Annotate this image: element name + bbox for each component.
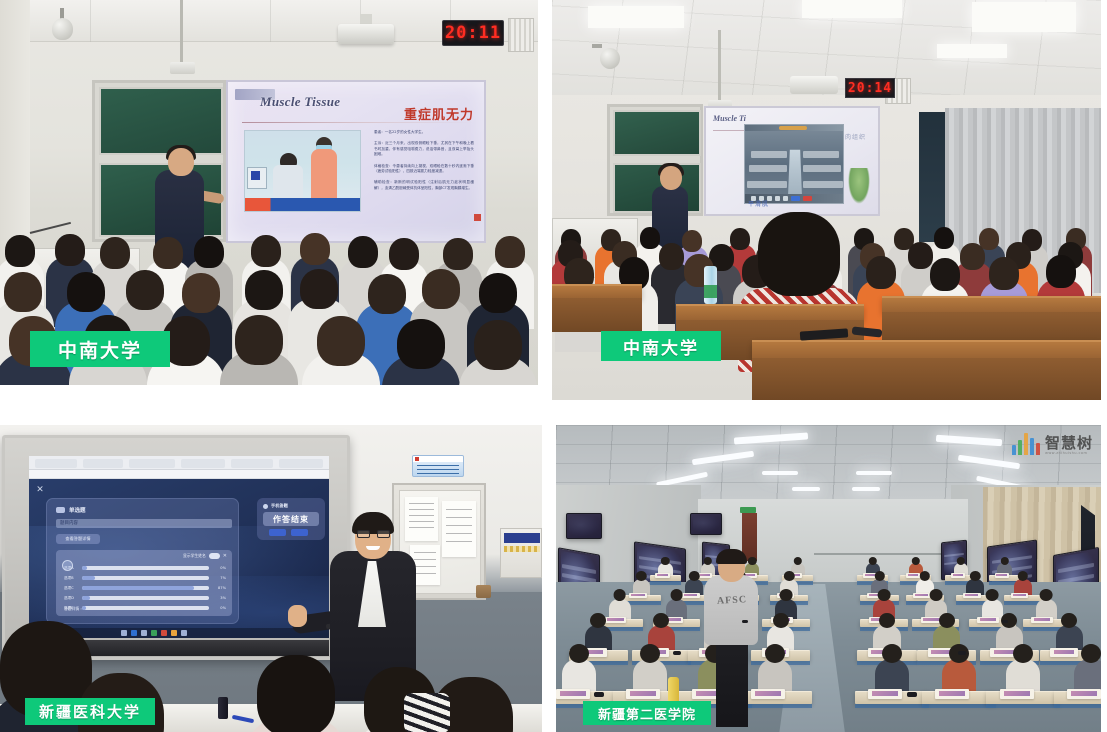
bench-desk — [882, 296, 1101, 312]
browser-address-bar[interactable] — [29, 470, 329, 479]
glasses-icon — [357, 530, 390, 538]
student-head — [245, 270, 283, 310]
smartphone — [1002, 620, 1008, 623]
notice-poster — [412, 455, 464, 477]
video-desk-row — [751, 151, 787, 158]
seated-student — [875, 659, 909, 693]
student-head — [970, 571, 980, 581]
student-head — [1046, 255, 1076, 288]
video-classroom-aisle — [788, 150, 802, 201]
slide-photo-monitor — [247, 167, 267, 189]
student-head — [929, 589, 942, 601]
mobile-icon — [263, 504, 268, 509]
textbook — [655, 573, 669, 577]
student-head — [653, 613, 669, 628]
walking-student-legs — [716, 641, 748, 727]
poster-header — [413, 456, 463, 462]
projection-screen: Muscle Ti 肌肉组织 平滑肌 — [704, 106, 880, 216]
student-head — [1081, 644, 1101, 663]
bench-desk — [552, 284, 642, 298]
student-head — [912, 557, 920, 565]
results-toggle-switch[interactable] — [209, 553, 220, 559]
slide-paragraph: 辅助检查：新斯的明试验阳性（注射后肌无力症状明显缓解），血清乙酰胆碱受体抗体呈阳… — [374, 180, 474, 191]
light-rod — [718, 30, 721, 102]
slide-footer-cn: 平滑肌 — [748, 199, 769, 208]
slide-decoration-tree — [848, 168, 870, 204]
textbook — [1011, 593, 1029, 598]
video-desk-row — [803, 165, 841, 172]
results-toggle-label: 显示学生姓名 — [183, 553, 206, 559]
textbook — [977, 617, 999, 624]
badge-university-top-left: 中南大学 — [30, 331, 170, 367]
student-head — [194, 236, 224, 268]
results-footer-link[interactable]: 答题详情 › — [64, 606, 82, 612]
answer-panel-actions[interactable] — [269, 529, 308, 536]
student-head — [636, 571, 646, 581]
ceiling-light-panel — [588, 6, 684, 28]
student-head — [368, 274, 406, 314]
results-bar-row: 选项B7% — [64, 574, 226, 582]
instructor-head — [168, 148, 194, 176]
textbook — [629, 593, 647, 598]
textbook — [605, 617, 627, 624]
wall-frame — [566, 513, 602, 539]
smartphone — [673, 651, 681, 655]
answer-status-header: 手机答题 — [263, 503, 288, 509]
student-head — [874, 571, 884, 581]
student-head — [689, 571, 699, 581]
textbook — [1050, 648, 1077, 656]
student-head — [300, 269, 338, 309]
control-panel-strip — [504, 546, 540, 552]
textbook — [1067, 689, 1101, 699]
quiz-type-icon — [56, 507, 65, 513]
student-head — [1013, 644, 1033, 663]
student-head — [939, 613, 955, 628]
option-bar-track — [82, 576, 209, 580]
results-panel-controls[interactable]: 显示学生姓名 ✕ — [183, 553, 227, 559]
student-sleeve — [404, 693, 450, 732]
control-panel-display — [504, 533, 540, 543]
video-desk-row — [803, 181, 843, 188]
poster-line — [417, 473, 459, 474]
bench-desk — [676, 304, 864, 320]
results-bar-list: 选项A0%选项B7%选项C87%选项D3%选项E0% — [64, 564, 226, 614]
results-footer-label: 答题详情 — [64, 606, 79, 611]
wall-frame — [690, 513, 722, 535]
wall-fixture — [476, 585, 491, 598]
student-head — [613, 589, 626, 601]
badge-university-bottom-left: 新疆医科大学 — [25, 698, 155, 725]
student-head — [773, 613, 789, 628]
student-head — [784, 571, 794, 581]
ceiling-light-tube — [852, 487, 880, 491]
textbook — [906, 573, 920, 577]
watermark-bar — [1012, 445, 1016, 455]
cabinet-paper — [442, 501, 476, 557]
student-head — [640, 644, 660, 663]
student-head — [126, 270, 164, 310]
student-head — [661, 557, 669, 565]
instructor-hand — [288, 605, 307, 627]
student-head — [348, 236, 378, 268]
security-camera-icon — [52, 18, 73, 40]
option-percent: 0% — [213, 606, 226, 610]
student-head — [920, 571, 930, 581]
student-head — [474, 320, 522, 370]
bench-desk — [752, 340, 1101, 358]
clock-time: 20:11 — [445, 23, 501, 43]
student-head — [153, 237, 183, 269]
window-dark-panel — [919, 112, 945, 242]
textbook — [1000, 689, 1034, 699]
student-head — [5, 235, 35, 267]
student-head — [765, 644, 785, 663]
ceiling-light-tube — [792, 487, 820, 491]
hoodie-text: AFSC — [711, 594, 754, 607]
slide-corner-badge — [474, 214, 481, 221]
seated-student — [562, 659, 596, 693]
answer-status-panel: 手机答题 作答结束 — [257, 498, 325, 540]
student-head — [389, 238, 419, 270]
photo-bottom-right[interactable]: AFSC 智慧树 www.zhihuishu.com — [556, 425, 1101, 732]
student-head — [960, 243, 985, 270]
ceiling-light-panel — [972, 2, 1076, 32]
textbook — [626, 689, 660, 699]
browser-tab[interactable] — [35, 459, 77, 468]
question-field[interactable]: 题目内容 — [56, 519, 232, 528]
student-head — [182, 273, 220, 313]
video-desk-row — [803, 151, 839, 158]
seated-student — [1006, 659, 1040, 693]
option-bar-fill — [82, 606, 86, 610]
student-head — [986, 589, 999, 601]
marker — [218, 697, 228, 719]
student-head — [989, 257, 1019, 290]
student-head — [100, 237, 130, 269]
browser-tab[interactable] — [279, 459, 323, 468]
student-head — [908, 242, 933, 269]
textbook — [556, 689, 590, 699]
video-desk-row — [749, 165, 787, 172]
student-head — [780, 589, 793, 601]
student-head — [1040, 589, 1053, 601]
blackboard-upper-panel — [613, 110, 701, 156]
watermark-bar — [1018, 440, 1022, 455]
textbook — [935, 689, 969, 699]
textbook — [868, 689, 902, 699]
option-label: 选项B — [64, 576, 78, 581]
student-head — [934, 227, 954, 249]
student-head — [569, 644, 589, 663]
student-head — [979, 228, 999, 250]
results-bar-row: 选项E0% — [64, 604, 226, 612]
student-head — [1018, 571, 1028, 581]
water-bottle — [704, 266, 717, 304]
slide-photo — [244, 130, 361, 212]
option-label: 选项C — [64, 586, 78, 591]
watermark-zhihuishu: 智慧树 www.zhihuishu.com — [1012, 431, 1093, 455]
student-head — [590, 613, 606, 628]
student-head — [878, 589, 891, 601]
poster-line — [417, 465, 459, 466]
option-percent: 87% — [213, 586, 226, 590]
option-bar-fill — [82, 576, 95, 580]
answer-finished-button[interactable]: 作答结束 — [263, 512, 319, 526]
slide-body-text: 患者：一名22岁的女性大学生。 主诉：近三个月来，出现双侧眼睑下垂，尤其在下午和… — [374, 130, 474, 197]
textbook — [1031, 617, 1053, 624]
instructor-head — [660, 166, 682, 190]
textbook — [751, 689, 785, 699]
led-clock: 20:11 — [442, 20, 504, 46]
smartphone — [907, 692, 917, 697]
browser-tab[interactable] — [129, 459, 175, 468]
student-head — [235, 315, 283, 365]
student-head — [1061, 613, 1077, 628]
slide-paragraph: 体格检查：令患者持续向上凝视，双眼睑在数十秒内逐渐下垂（疲劳试验阳性），四肢近端… — [374, 164, 474, 175]
option-label: 选项D — [64, 596, 78, 601]
student-head — [957, 557, 965, 565]
badge-university-top-right: 中南大学 — [601, 331, 721, 361]
student-head — [882, 644, 902, 663]
ceiling-light-tube — [762, 471, 798, 475]
slide-title-en: Muscle Tissue — [260, 94, 340, 110]
video-desk-row — [747, 181, 787, 188]
slide-paragraph: 主诉：近三个月来，出现双侧眼睑下垂，尤其在下午和晚上看书时加重，伴有感觉咀嚼费力… — [374, 141, 474, 157]
instructor-smile — [366, 546, 380, 550]
walking-student-body — [704, 575, 758, 645]
smartphone — [958, 651, 966, 655]
results-bar-row: 选项D3% — [64, 594, 226, 602]
poster-line — [417, 469, 459, 470]
textbook — [995, 573, 1009, 577]
ceiling-projector-icon — [790, 76, 838, 94]
results-panel: 显示学生姓名 ✕ 选项A0%选项B7%选项C87%选项D3%选项E0% 答题详情… — [56, 550, 232, 616]
student-head — [659, 243, 684, 270]
textbook — [951, 573, 965, 577]
side-panel-title: 手机答题 — [271, 503, 288, 509]
slide-title-en: Muscle Ti — [713, 114, 746, 123]
wall-railing — [814, 553, 946, 555]
slide-photo-nurse — [311, 149, 337, 205]
student-head — [730, 228, 750, 250]
ceiling-light-tube — [856, 471, 892, 475]
student-head — [682, 230, 702, 252]
photo-collage: 20:11 Muscle Tissue 重症肌无力 — [0, 0, 1107, 732]
option-bar-track — [82, 596, 209, 600]
student-head — [55, 234, 85, 266]
redo-button[interactable] — [269, 529, 286, 536]
student-head — [670, 589, 683, 601]
student-head — [479, 273, 517, 313]
quiz-panel-title: 单选题 — [69, 506, 86, 514]
camera-mount — [592, 44, 602, 48]
watermark-url: www.zhihuishu.com — [1045, 451, 1087, 455]
smartphone — [742, 620, 748, 623]
student-head — [794, 557, 802, 565]
watermark-bar — [1024, 433, 1028, 455]
student-head — [67, 272, 105, 312]
option-percent: 0% — [213, 566, 226, 570]
close-icon[interactable]: ✕ — [223, 553, 227, 559]
watermark-bar — [1036, 443, 1040, 455]
video-title-chip — [779, 126, 807, 130]
option-percent: 7% — [213, 576, 226, 580]
seated-student — [758, 659, 792, 693]
slide-divider — [242, 122, 474, 123]
control-panel[interactable] — [500, 528, 542, 578]
results-bar-row: 选项C87% — [64, 584, 226, 592]
bench-desk-front — [552, 298, 642, 332]
student-head — [495, 236, 525, 268]
slide-paragraph: 患者：一名22岁的女性大学生。 — [374, 130, 474, 135]
ceiling-projector-icon — [338, 24, 394, 44]
smartboard-display[interactable]: ✕ 单选题 题目内容 查看答题详情 显示学生姓名 — [29, 456, 329, 638]
ceiling-light-panel — [937, 44, 1007, 58]
collapse-button[interactable] — [291, 529, 308, 536]
cursor-highlight — [62, 560, 73, 571]
projection-screen: Muscle Tissue 重症肌无力 患者：一名22岁的女性大学生。 主诉：近… — [226, 80, 486, 243]
student-head — [1000, 557, 1008, 565]
photo-top-left[interactable]: 20:11 Muscle Tissue 重症肌无力 — [0, 0, 538, 385]
option-bar-fill — [82, 566, 87, 570]
watermark-bars — [1012, 431, 1040, 455]
seated-student — [942, 659, 976, 693]
student-head — [866, 256, 896, 289]
results-bar-row: 选项A0% — [64, 564, 226, 572]
ceiling-light-panel — [802, 0, 902, 18]
option-percent: 3% — [213, 596, 226, 600]
watermark-brand: 智慧树 — [1045, 435, 1093, 451]
clock-time: 20:14 — [848, 81, 892, 96]
seated-student — [1074, 659, 1101, 693]
slide-photo-caption-bar — [245, 198, 360, 211]
quiz-panel-header: 单选题 — [56, 506, 86, 514]
student-head — [257, 655, 335, 732]
textbook — [682, 593, 700, 598]
student-head — [4, 272, 42, 312]
option-bar-fill — [82, 586, 194, 590]
security-camera-icon — [600, 48, 620, 69]
option-bar-track — [82, 586, 209, 590]
light-fixture — [170, 62, 195, 74]
student-head — [443, 238, 473, 270]
browser-tab[interactable] — [181, 459, 225, 468]
browser-tab-bar[interactable] — [29, 456, 329, 470]
student-head — [300, 233, 330, 265]
cabinet-paper — [405, 497, 438, 541]
student-head — [640, 227, 660, 249]
blackboard-upper-panel — [99, 87, 223, 155]
student-head — [930, 258, 960, 291]
textbook — [913, 593, 931, 598]
view-details-button[interactable]: 查看答题详情 — [56, 534, 100, 544]
led-clock: 20:14 — [845, 78, 895, 98]
option-bar-track — [82, 566, 209, 570]
student-head — [317, 316, 365, 366]
student-head — [758, 212, 840, 296]
student-head — [748, 557, 756, 565]
option-bar-track — [82, 606, 209, 610]
close-icon[interactable]: ✕ — [36, 485, 44, 493]
watermark-bar — [1030, 438, 1034, 455]
quiz-panel[interactable]: 单选题 题目内容 查看答题详情 显示学生姓名 ✕ 选项A0%选项B7%选项C87… — [46, 498, 239, 624]
student-head — [879, 613, 895, 628]
textbook — [963, 593, 981, 598]
browser-tab[interactable] — [231, 459, 273, 468]
light-rod — [180, 0, 183, 62]
student-head — [397, 319, 445, 369]
photo-bottom-left[interactable]: ✕ 单选题 题目内容 查看答题详情 显示学生姓名 — [0, 425, 542, 732]
bench-desk-front — [752, 358, 1101, 400]
seated-student — [633, 659, 667, 693]
walking-student-hair — [716, 549, 747, 564]
option-bar-fill — [82, 596, 90, 600]
student-head — [422, 269, 460, 309]
video-conference-view — [744, 124, 844, 204]
air-vent-icon — [508, 18, 534, 52]
browser-tab[interactable] — [83, 459, 123, 468]
badge-university-bottom-right: 新疆第二医学院 — [583, 701, 711, 725]
student-head — [704, 557, 712, 565]
smartphone — [594, 692, 604, 697]
slide-title-cn: 重症肌无力 — [404, 104, 474, 123]
student-head — [251, 235, 281, 267]
student-head — [869, 557, 877, 565]
